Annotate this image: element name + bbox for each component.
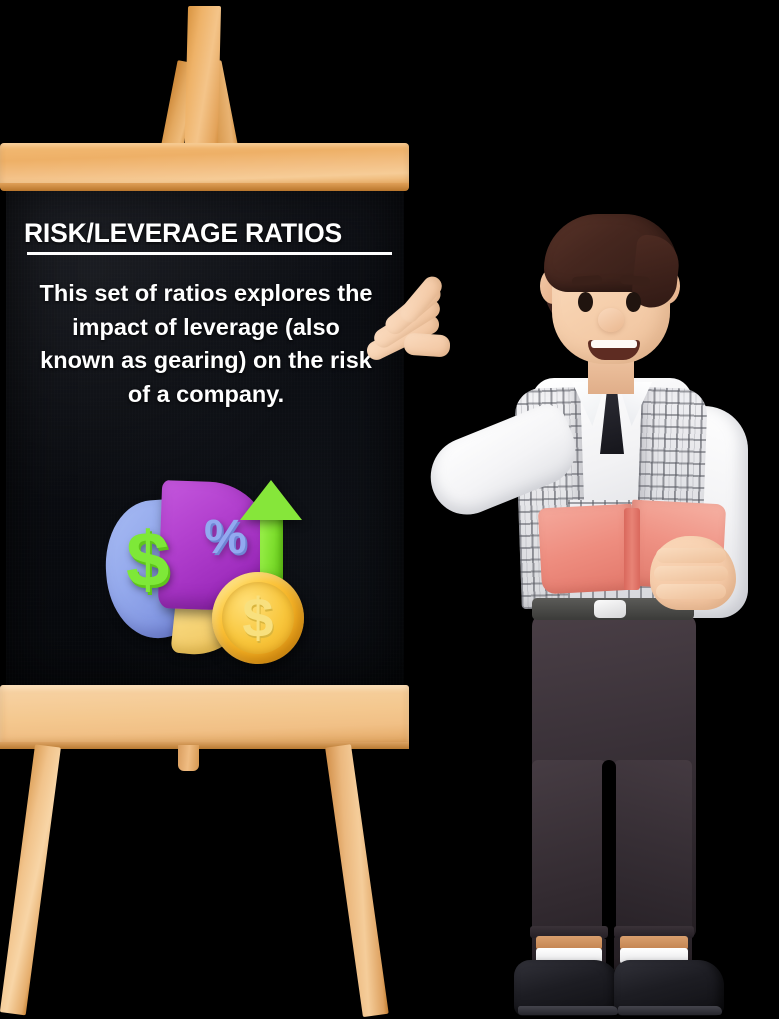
- gold-coin-icon: $: [212, 572, 304, 664]
- character-nose: [598, 308, 624, 332]
- character-right-shoe-sole: [618, 1006, 722, 1015]
- character-teeth: [591, 340, 637, 348]
- easel-center-stub: [178, 745, 199, 771]
- right-finger-1: [656, 548, 726, 563]
- coin-dollar-symbol: $: [212, 572, 304, 664]
- character-mouth: [588, 340, 640, 360]
- board-title: RISK/LEVERAGE RATIOS: [24, 218, 394, 249]
- scene-canvas: RISK/LEVERAGE RATIOS This set of ratios …: [0, 0, 779, 1019]
- easel-bottom-rail: [0, 685, 409, 748]
- book-spine: [624, 508, 640, 590]
- easel-bottom-left-leg: [0, 744, 61, 1015]
- easel-top-rail-lip: [0, 183, 409, 191]
- board-title-underline: [27, 252, 392, 255]
- right-finger-2: [654, 566, 728, 581]
- character-left-eye: [578, 292, 593, 312]
- percent-sign-icon: %: [204, 514, 247, 562]
- book-left-page: [538, 504, 636, 595]
- character-right-eye: [626, 292, 641, 312]
- right-finger-3: [656, 584, 726, 599]
- finance-illustration: % $ $: [98, 478, 313, 668]
- character-leg-gap: [602, 760, 616, 940]
- presenter-character: [392, 200, 779, 1019]
- board-body-text: This set of ratios explores the impact o…: [36, 277, 376, 411]
- character-belt-buckle: [594, 600, 626, 618]
- arrow-shaft: [260, 514, 283, 580]
- dollar-sign-icon: $: [126, 520, 169, 598]
- easel-bottom-right-leg: [325, 744, 389, 1017]
- arrow-head: [240, 480, 302, 520]
- character-left-shoe-sole: [518, 1006, 618, 1015]
- up-arrow-icon: [240, 480, 302, 580]
- character-left-hand: [360, 288, 456, 376]
- left-thumb: [403, 332, 450, 357]
